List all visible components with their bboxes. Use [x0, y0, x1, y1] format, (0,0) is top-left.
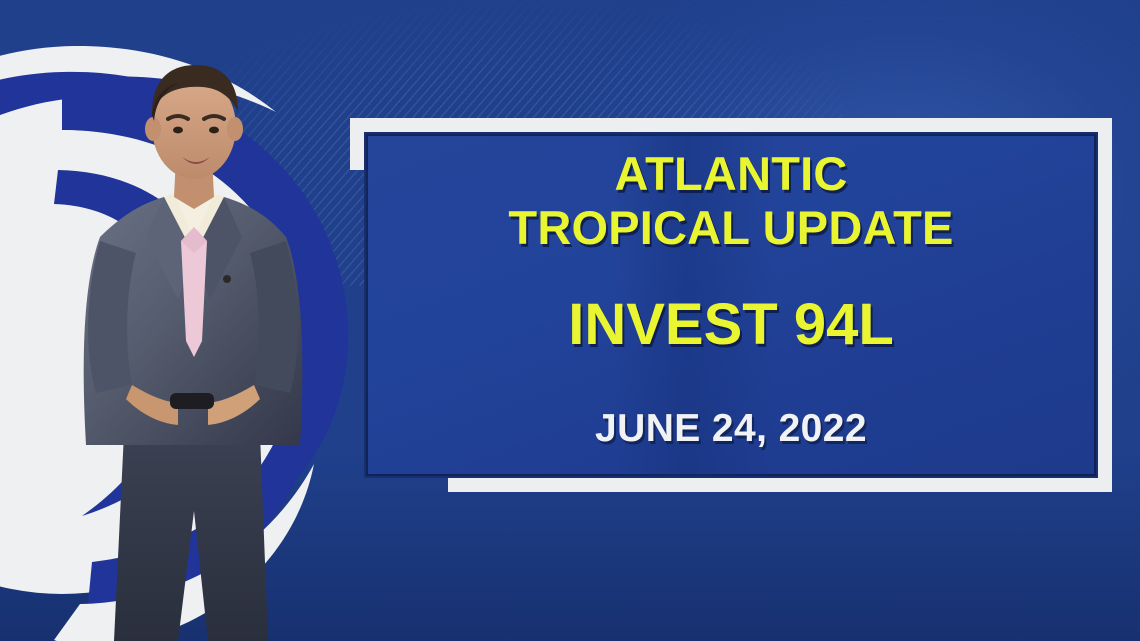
meteorologist-presenter: [28, 41, 358, 641]
headline: ATLANTIC TROPICAL UPDATE: [508, 150, 953, 252]
frame-border-right: [1098, 118, 1112, 492]
title-card: ATLANTIC TROPICAL UPDATE INVEST 94L JUNE…: [350, 118, 1112, 492]
headline-line-1: ATLANTIC: [614, 147, 847, 200]
title-card-text: ATLANTIC TROPICAL UPDATE INVEST 94L JUNE…: [366, 134, 1096, 476]
frame-border-top: [350, 118, 1112, 132]
broadcast-date: JUNE 24, 2022: [595, 409, 867, 448]
frame-corner-bracket-left: [350, 118, 364, 170]
frame-border-bottom: [448, 478, 1112, 492]
storm-subject: INVEST 94L: [568, 296, 894, 354]
headline-line-2: TROPICAL UPDATE: [508, 204, 953, 252]
broadcast-graphic: ATLANTIC TROPICAL UPDATE INVEST 94L JUNE…: [0, 0, 1140, 641]
